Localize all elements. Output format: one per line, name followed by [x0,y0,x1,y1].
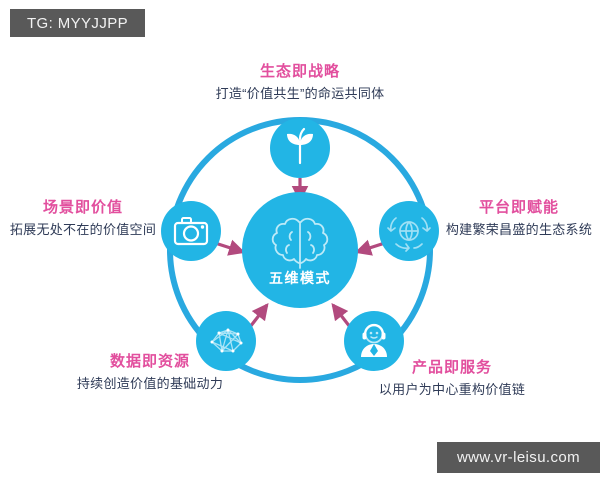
arrow-from-scenario [215,243,243,252]
top-left-watermark-badge: TG: MYYJJPP [10,9,145,37]
label-ecology: 生态即战略 打造“价值共生”的命运共同体 [200,62,400,103]
label-platform: 平台即赋能 构建繁荣昌盛的生态系统 [440,198,598,239]
arrow-from-data [250,305,267,327]
label-ecology-title: 生态即战略 [200,62,400,82]
node-platform[interactable] [379,201,439,261]
label-scenario: 场景即价值 拓展无处不在的价值空间 [3,198,163,239]
label-scenario-title: 场景即价值 [3,198,163,218]
label-scenario-subtitle: 拓展无处不在的价值空间 [3,221,163,239]
label-product-subtitle: 以用户为中心重构价值链 [352,381,552,399]
label-product: 产品即服务 以用户为中心重构价值链 [352,358,552,399]
center-hub-label: 五维模式 [250,268,350,288]
label-platform-title: 平台即赋能 [440,198,598,218]
center-hub[interactable] [242,192,358,308]
node-ecology[interactable] [270,118,330,178]
arrow-from-product [333,305,350,327]
label-data: 数据即资源 持续创造价值的基础动力 [52,352,248,393]
label-ecology-subtitle: 打造“价值共生”的命运共同体 [200,85,400,103]
label-data-title: 数据即资源 [52,352,248,372]
label-platform-subtitle: 构建繁荣昌盛的生态系统 [440,221,598,239]
label-data-subtitle: 持续创造价值的基础动力 [52,375,248,393]
node-scenario[interactable] [161,201,221,261]
bottom-right-watermark-badge: www.vr-leisu.com [437,442,600,473]
arrow-from-platform [357,243,385,252]
label-product-title: 产品即服务 [352,358,552,378]
